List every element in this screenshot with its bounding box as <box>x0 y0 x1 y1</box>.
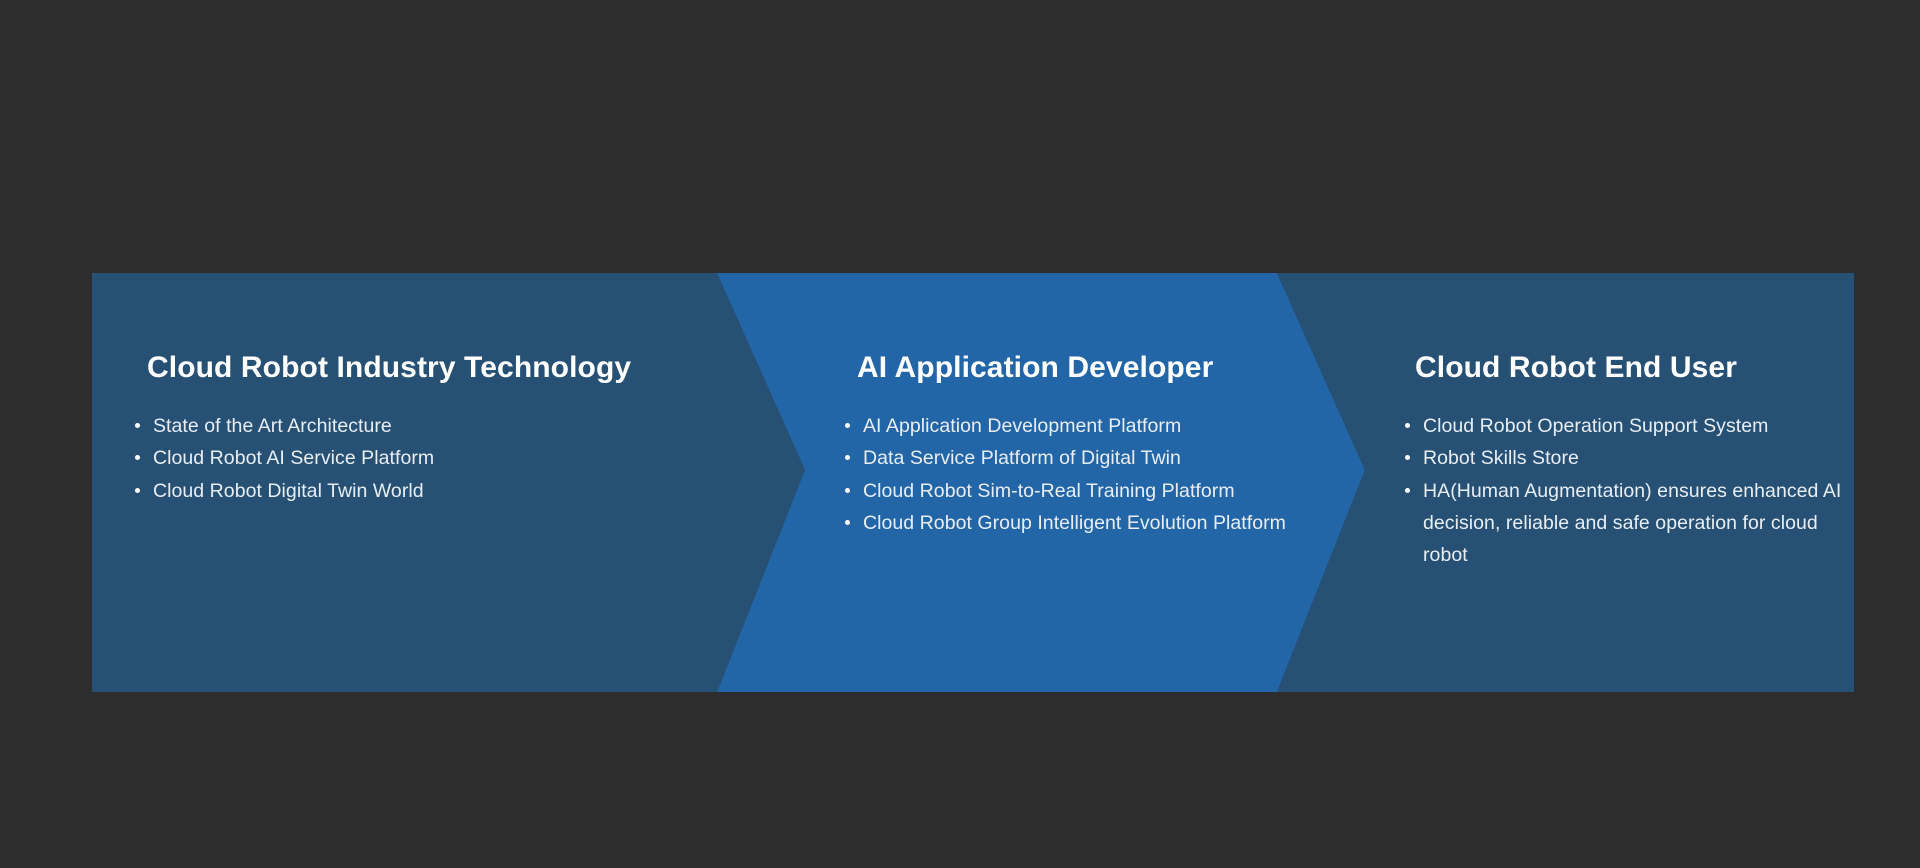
bullet-dot-icon <box>1405 455 1410 460</box>
bullet-text: Cloud Robot AI Service Platform <box>153 447 434 469</box>
bullet-dot-icon <box>135 423 140 428</box>
list-item: Cloud Robot Sim-to-Real Training Platfor… <box>842 475 1362 507</box>
bullet-dot-icon <box>845 520 850 525</box>
bullet-text: HA(Human Augmentation) ensures enhanced … <box>1423 480 1841 567</box>
column-2-title: AI Application Developer <box>857 353 1213 383</box>
bullet-dot-icon <box>1405 423 1410 428</box>
column-1-title: Cloud Robot Industry Technology <box>147 353 631 383</box>
list-item: AI Application Development Platform <box>842 410 1362 442</box>
column-1-bullet-list: State of the Art Architecture Cloud Robo… <box>132 410 732 507</box>
list-item: Cloud Robot Digital Twin World <box>132 475 732 507</box>
column-ai-application-developer: AI Application Developer AI Application … <box>752 273 1352 692</box>
columns-container: Cloud Robot Industry Technology State of… <box>92 273 1854 692</box>
bullet-text: Cloud Robot Sim-to-Real Training Platfor… <box>863 480 1235 502</box>
list-item: State of the Art Architecture <box>132 410 732 442</box>
bullet-text: Data Service Platform of Digital Twin <box>863 447 1181 469</box>
list-item: Robot Skills Store <box>1402 442 1852 474</box>
bullet-text: Cloud Robot Group Intelligent Evolution … <box>863 512 1286 534</box>
list-item: Cloud Robot Group Intelligent Evolution … <box>842 507 1362 539</box>
bullet-dot-icon <box>845 488 850 493</box>
list-item: Cloud Robot AI Service Platform <box>132 442 732 474</box>
bullet-text: Robot Skills Store <box>1423 447 1579 469</box>
slide-canvas: Cloud Robot Industry Technology State of… <box>0 0 1920 868</box>
bullet-dot-icon <box>845 423 850 428</box>
bullet-text: Cloud Robot Digital Twin World <box>153 480 424 502</box>
bullet-dot-icon <box>135 455 140 460</box>
bullet-dot-icon <box>845 455 850 460</box>
list-item: Cloud Robot Operation Support System <box>1402 410 1852 442</box>
column-3-title: Cloud Robot End User <box>1415 353 1737 383</box>
column-cloud-robot-industry-technology: Cloud Robot Industry Technology State of… <box>92 273 752 692</box>
column-2-bullet-list: AI Application Development Platform Data… <box>842 410 1362 539</box>
chevron-banner: Cloud Robot Industry Technology State of… <box>92 273 1854 692</box>
column-cloud-robot-end-user: Cloud Robot End User Cloud Robot Operati… <box>1352 273 1854 692</box>
bullet-dot-icon <box>135 488 140 493</box>
list-item: HA(Human Augmentation) ensures enhanced … <box>1402 475 1852 572</box>
column-3-bullet-list: Cloud Robot Operation Support System Rob… <box>1402 410 1852 571</box>
bullet-text: State of the Art Architecture <box>153 415 392 437</box>
list-item: Data Service Platform of Digital Twin <box>842 442 1362 474</box>
bullet-text: AI Application Development Platform <box>863 415 1181 437</box>
bullet-dot-icon <box>1405 488 1410 493</box>
bullet-text: Cloud Robot Operation Support System <box>1423 415 1768 437</box>
